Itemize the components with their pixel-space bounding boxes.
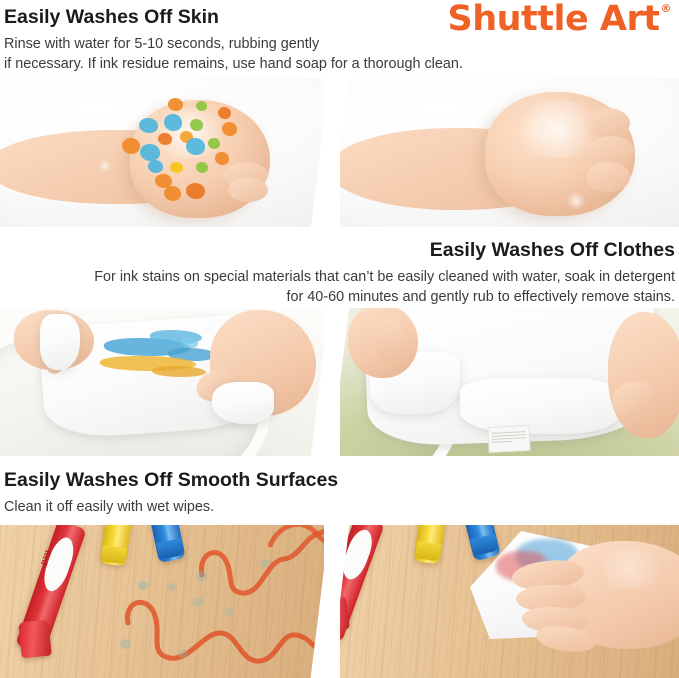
ink-dot [168, 98, 183, 111]
right-hand [608, 312, 679, 438]
section-surfaces-heading: Easily Washes Off Smooth Surfaces [4, 469, 675, 493]
ink-dot [190, 119, 203, 131]
section-clothes-body-line2: for 40-60 minutes and gently rub to effe… [4, 288, 675, 308]
water-spot [168, 583, 177, 591]
shirt-fold [40, 314, 80, 370]
ink-dot [158, 133, 172, 145]
marker-cap-ring [101, 545, 127, 564]
care-label [487, 425, 530, 453]
section-surfaces-body-line1: Clean it off easily with wet wipes. [4, 498, 675, 518]
knuckle-c [586, 162, 630, 192]
shirt-fold [460, 378, 620, 434]
ink-dot [215, 152, 229, 165]
photo-clean-shirt [340, 308, 679, 456]
ink-dot [170, 162, 183, 173]
water-spot [196, 571, 207, 581]
water-spot [192, 597, 204, 607]
photo-wiping-table: Red [340, 525, 679, 678]
ink-stain-blue [182, 338, 198, 348]
ink-dot [148, 160, 163, 173]
ink-dot [164, 114, 182, 131]
ink-dot [186, 183, 205, 199]
photo-clean-hand [340, 78, 679, 227]
ink-dot [122, 138, 140, 154]
ink-scribble-top-right [268, 525, 324, 557]
water-droplet [565, 193, 587, 209]
marker-cap-ring [415, 541, 441, 561]
product-feature-page: Shuttle Art ® Easily Washes Off Skin Rin… [0, 0, 679, 678]
photo-row-clothes [0, 308, 679, 456]
shirt-fold [212, 382, 274, 424]
ink-dot [196, 101, 207, 111]
water-spot [224, 607, 234, 616]
knuckle-b [228, 178, 268, 202]
skin-highlight [590, 549, 670, 589]
ink-dot [164, 186, 181, 201]
ink-dot [196, 162, 208, 173]
section-clothes-body-line1: For ink stains on special materials that… [4, 268, 675, 288]
ink-dot [222, 122, 237, 136]
photo-hand-with-ink-dots [0, 78, 324, 227]
ink-dot [139, 118, 158, 133]
photo-row-skin [0, 78, 679, 227]
section-skin-body-line2: if necessary. If ink residue remains, us… [4, 55, 675, 75]
section-clothes-text: Easily Washes Off Clothes For ink stains… [0, 239, 679, 308]
section-skin-body-line1: Rinse with water for 5-10 seconds, rubbi… [4, 35, 675, 55]
water-spot [120, 639, 131, 649]
section-skin-text: Easily Washes Off Skin Rinse with water … [0, 6, 679, 75]
water-spot [178, 649, 188, 658]
ink-dot [208, 138, 220, 149]
section-clothes-heading: Easily Washes Off Clothes [4, 239, 675, 263]
water-spot [112, 611, 126, 623]
water-spot [138, 581, 148, 590]
ink-dot [140, 144, 160, 161]
ink-dot [186, 138, 205, 155]
photo-row-surfaces: Red [0, 525, 679, 678]
section-skin-heading: Easily Washes Off Skin [4, 6, 675, 30]
ink-stain-yellow [152, 366, 206, 377]
water-droplet [98, 160, 112, 172]
skin-highlight [510, 100, 605, 158]
ink-dot [218, 107, 231, 119]
photo-stained-shirt [0, 308, 324, 456]
section-surfaces-text: Easily Washes Off Smooth Surfaces Clean … [0, 469, 679, 518]
water-spot [260, 559, 270, 568]
photo-markers-on-table: Red [0, 525, 324, 678]
marker-cap-red [18, 620, 52, 659]
